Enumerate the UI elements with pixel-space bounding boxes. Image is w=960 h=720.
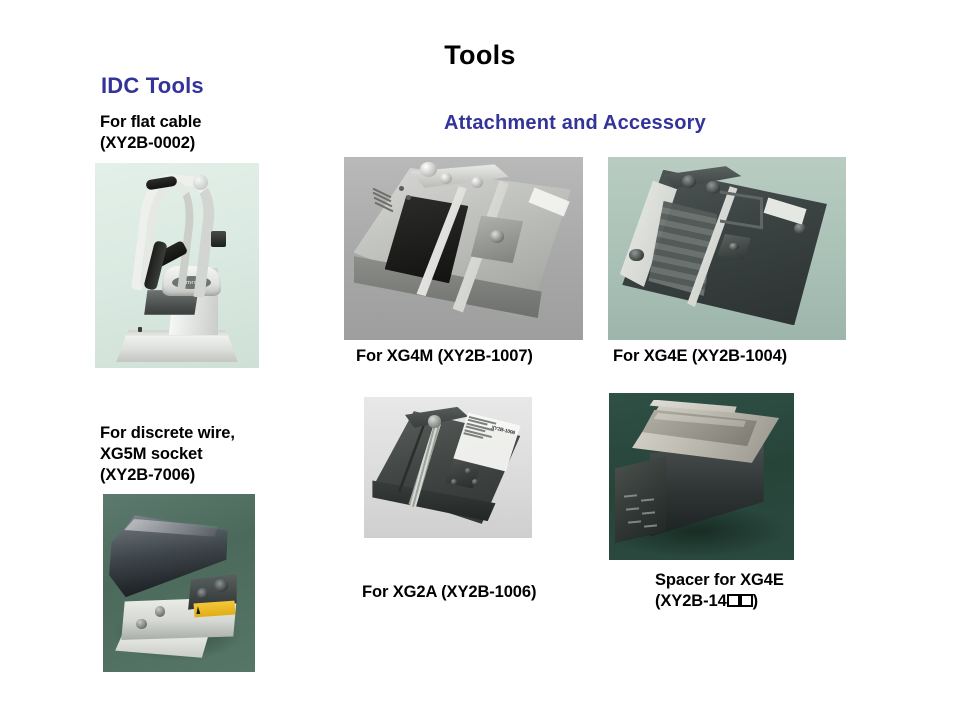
top-bar-screw-1	[440, 173, 452, 184]
top-bar-screw-2	[471, 177, 483, 188]
photo-content: omron	[95, 163, 259, 368]
scale-markings	[370, 186, 403, 215]
hole-1	[682, 175, 696, 188]
lever-pivot	[193, 175, 208, 189]
hole-2	[706, 181, 720, 194]
hook-bracket	[720, 190, 763, 228]
photo-content	[609, 393, 794, 560]
part-label-text: XY2B-1006	[490, 425, 515, 437]
page-title: Tools	[0, 40, 960, 71]
placeholder-box-1	[727, 594, 740, 607]
hole-3	[629, 249, 643, 262]
caption-flat-cable: For flat cable (XY2B-0002)	[100, 112, 201, 154]
body-pin-2	[155, 606, 166, 617]
xg4m-attachment-photo	[344, 157, 583, 340]
photo-content	[103, 494, 255, 672]
photo-content: XY2B-1006	[364, 397, 532, 538]
section-heading-idc-tools: IDC Tools	[101, 73, 204, 99]
xg2a-attachment-photo: XY2B-1006	[364, 397, 532, 538]
bracket-bolt-1	[465, 468, 471, 474]
caption-spacer-prefix: (XY2B-14	[655, 592, 727, 610]
slide-canvas: Tools IDC Tools Attachment and Accessory…	[0, 0, 960, 720]
caption-xg4m: For XG4M (XY2B-1007)	[356, 346, 533, 367]
caption-spacer: Spacer for XG4E(XY2B-14)	[655, 570, 784, 612]
warning-label	[194, 600, 236, 617]
hand-crimp-tool-photo	[103, 494, 255, 672]
photo-content	[344, 157, 583, 340]
idc-press-tool-photo: omron	[95, 163, 259, 368]
placeholder-box-2	[740, 594, 753, 607]
xg4e-attachment-photo	[608, 157, 846, 340]
caption-xg4e: For XG4E (XY2B-1004)	[613, 346, 787, 367]
caption-spacer-suffix: )	[753, 592, 758, 610]
caption-spacer-line1: Spacer for XG4E	[655, 571, 784, 589]
caption-xg2a: For XG2A (XY2B-1006)	[362, 582, 536, 603]
adjust-knob	[211, 231, 226, 247]
clamp-block-screw	[490, 230, 504, 243]
bracket-bolt-3	[472, 479, 478, 485]
caption-discrete-wire: For discrete wire, XG5M socket (XY2B-700…	[100, 423, 235, 486]
photo-content	[608, 157, 846, 340]
xg4e-spacer-photo	[609, 393, 794, 560]
section-heading-attachment-accessory: Attachment and Accessory	[444, 112, 706, 135]
die-hole-2	[197, 588, 208, 599]
base-bolt-left	[138, 327, 142, 332]
engraved-markings	[622, 490, 663, 533]
tool-base	[116, 335, 237, 362]
die-hole-1	[214, 579, 228, 591]
